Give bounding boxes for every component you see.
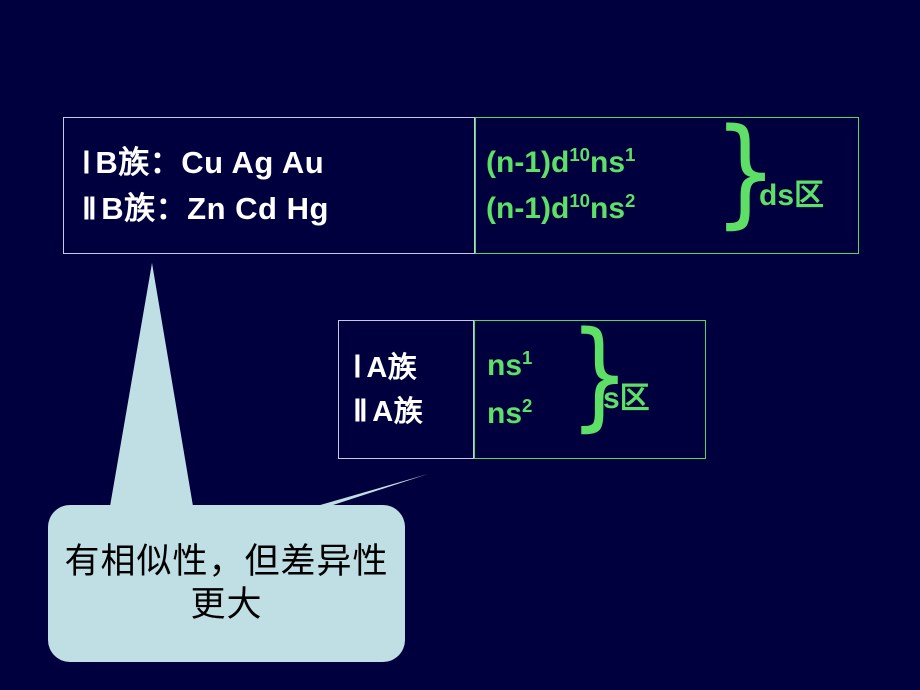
ds-block-groups-cell: ⅠB族：Cu Ag Au ⅡB族：Zn Cd Hg (63, 117, 475, 254)
group-label-1: A族 (366, 352, 417, 384)
table-row: ⅠB族：Cu Ag Au (82, 147, 474, 179)
ds-block-label: ds区 (759, 170, 824, 214)
s-block-label: s区 (603, 373, 650, 417)
config-mid-2: ns (487, 397, 522, 430)
group-label-2: A族 (372, 396, 423, 428)
config-superscript-2b: 2 (625, 190, 635, 211)
table-row: ⅠA族 (353, 353, 473, 383)
config-mid-2: ns (590, 192, 625, 225)
config-superscript-1a: 10 (569, 144, 590, 165)
config-mid-1: ns (487, 349, 522, 382)
config-prefix-2: (n-1)d (486, 192, 569, 225)
ds-block-config-cell: (n-1)d10ns1 (n-1)d10ns2 } ds区 (475, 117, 859, 254)
table-row: ⅡB族：Zn Cd Hg (82, 193, 474, 225)
callout-tail-up (108, 263, 195, 518)
callout-bubble: 有相似性，但差异性更大 (48, 505, 405, 662)
config-superscript-2a: 10 (569, 190, 590, 211)
config-superscript-2b: 2 (522, 395, 532, 416)
config-superscript-1b: 1 (522, 347, 532, 368)
ds-block-table: ⅠB族：Cu Ag Au ⅡB族：Zn Cd Hg (n-1)d10ns1 (n… (63, 117, 859, 254)
slide-canvas: ⅠB族：Cu Ag Au ⅡB族：Zn Cd Hg (n-1)d10ns1 (n… (0, 0, 920, 690)
table-row: ⅡA族 (353, 397, 473, 427)
group-label-2: B族：Zn Cd Hg (101, 191, 329, 226)
roman-numeral-2: Ⅱ (82, 193, 101, 226)
s-block-config-cell: ns1 ns2 } s区 (474, 320, 706, 459)
roman-numeral-2: Ⅱ (353, 395, 372, 428)
group-label-1: B族：Cu Ag Au (95, 145, 324, 180)
s-block-table: ⅠA族 ⅡA族 ns1 ns2 } s区 (338, 320, 706, 459)
s-block-groups-cell: ⅠA族 ⅡA族 (338, 320, 474, 459)
config-mid-1: ns (590, 146, 625, 179)
roman-numeral-1: Ⅰ (82, 147, 95, 180)
config-prefix-1: (n-1)d (486, 146, 569, 179)
config-superscript-1b: 1 (625, 144, 635, 165)
roman-numeral-1: Ⅰ (353, 351, 366, 384)
callout-text: 有相似性，但差异性更大 (48, 541, 405, 626)
